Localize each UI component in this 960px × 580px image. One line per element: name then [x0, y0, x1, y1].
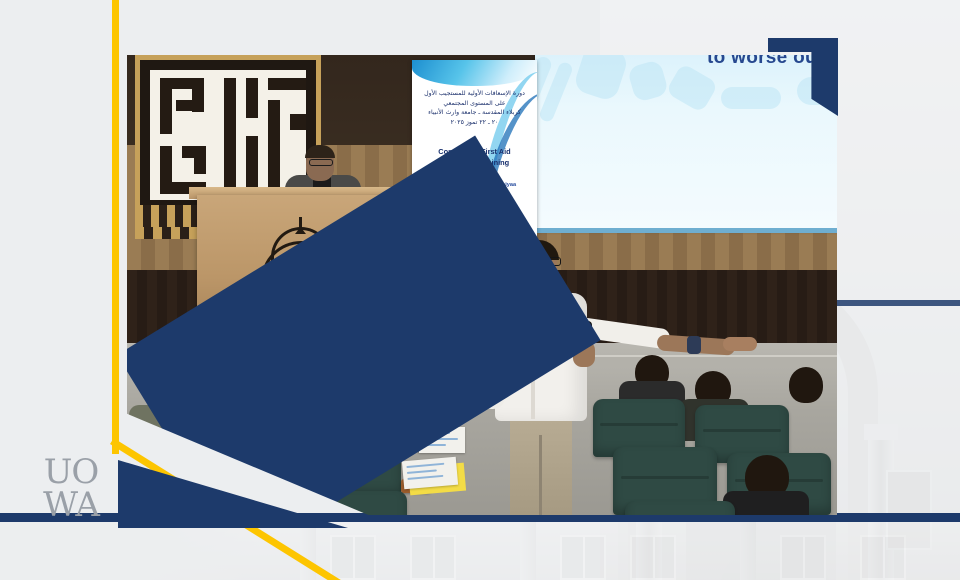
seated-speaker-glasses	[309, 159, 333, 166]
watermark-window	[630, 535, 676, 580]
projector-screen: to worse outc	[535, 55, 837, 228]
banner-arabic-line-3: كربلاء المقدسة ـ جامعة وارث الأنبياء	[412, 108, 537, 118]
auditorium-seat	[625, 501, 735, 515]
attendee-head	[789, 367, 823, 403]
watermark-window	[410, 535, 456, 580]
watermark-window	[780, 535, 826, 580]
banner-arabic-line-1: دورة الإسعافات الأولية للمستجيب الأول	[412, 89, 537, 99]
auditorium-seat	[291, 491, 407, 515]
banner-arabic-block: دورة الإسعافات الأولية للمستجيب الأول عل…	[412, 89, 537, 127]
banner-arabic-line-2: على المستوى المجتمعي	[412, 99, 537, 109]
watermark-window	[860, 535, 906, 580]
presenter-wristwatch	[687, 336, 701, 354]
event-photo: to worse outc دورة الإسعافات الأولية للم…	[127, 55, 837, 515]
presenter-pointing-hand	[723, 337, 757, 351]
banner-header-graphic	[412, 60, 537, 86]
presenter-trouser-seam	[539, 435, 542, 515]
photo-content: to worse outc دورة الإسعافات الأولية للم…	[127, 55, 837, 515]
handout-paper	[402, 457, 458, 490]
yellow-vertical-rule	[112, 0, 119, 452]
uowa-logo-line-2: WA	[28, 485, 114, 525]
uowa-logo: UO WA	[28, 452, 114, 530]
watermark-capital-right	[864, 424, 898, 440]
lower-building-watermark	[0, 521, 960, 580]
watermark-window	[560, 535, 606, 580]
watermark-pilaster	[520, 521, 536, 580]
watermark-pilaster	[740, 521, 756, 580]
projector-screen-frame	[535, 228, 837, 233]
kufic-decor-inner	[150, 70, 306, 200]
poster-canvas: to worse outc دورة الإسعافات الأولية للم…	[0, 0, 960, 580]
attendee-torso	[723, 491, 809, 515]
banner-arabic-line-4: ٢٠ ـ ٢٢ تموز ٢٠٢٥	[412, 118, 537, 128]
watermark-window	[330, 535, 376, 580]
navy-accent-rule-right	[820, 300, 960, 306]
